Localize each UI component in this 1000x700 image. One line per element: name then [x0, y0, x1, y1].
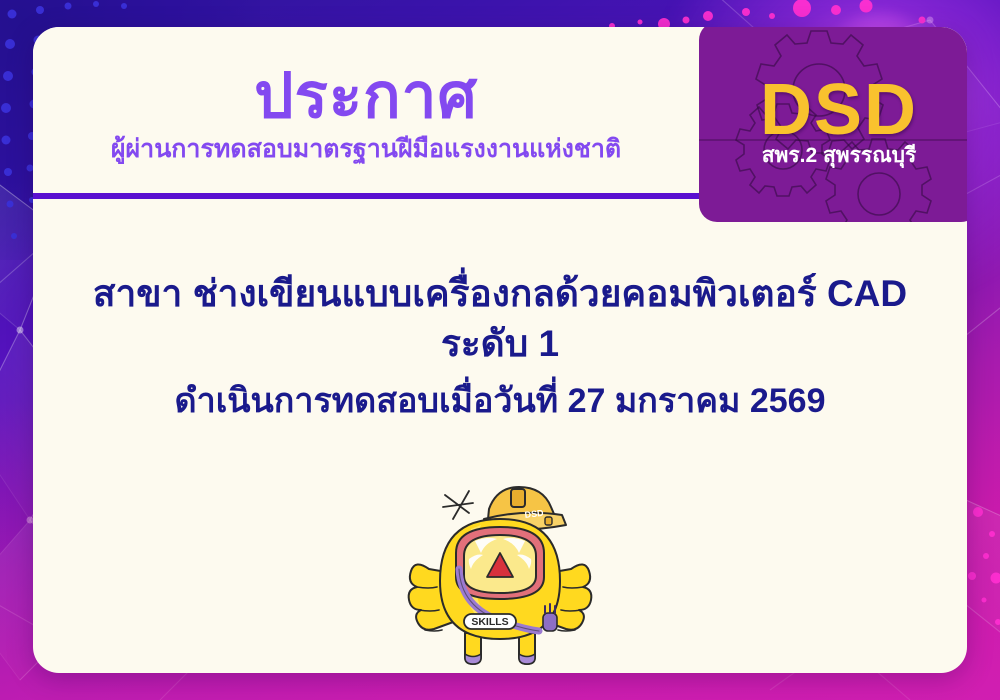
mascot-belly-label: SKILLS — [471, 616, 508, 628]
mascot-illustration: DSD — [385, 473, 615, 673]
skills-mascot: DSD — [385, 473, 615, 673]
poster-canvas: ประกาศ ผู้ผ่านการทดสอบมาตรฐานฝีมือแรงงาน… — [0, 0, 1000, 700]
page-title: ประกาศ — [254, 66, 478, 128]
header-title-group: ประกาศ ผู้ผ่านการทดสอบมาตรฐานฝีมือแรงงาน… — [33, 27, 699, 199]
poster-card: ประกาศ ผู้ผ่านการทดสอบมาตรฐานฝีมือแรงงาน… — [33, 27, 967, 673]
test-date-line: ดำเนินการทดสอบเมื่อวันที่ 27 มกราคม 2569 — [61, 380, 939, 423]
page-subtitle: ผู้ผ่านการทดสอบมาตรฐานฝีมือแรงงานแห่งชาต… — [111, 136, 621, 164]
dsd-logo-block: DSD สพร.2 สุพรรณบุรี — [699, 27, 967, 222]
trade-name-line: สาขา ช่างเขียนแบบเครื่องกลด้วยคอมพิวเตอร… — [61, 271, 939, 317]
level-line: ระดับ 1 — [61, 321, 939, 367]
body-content: สาขา ช่างเขียนแบบเครื่องกลด้วยคอมพิวเตอร… — [33, 205, 967, 673]
dsd-acronym: DSD — [760, 77, 918, 143]
dsd-caption: สพร.2 สุพรรณบุรี — [762, 144, 917, 167]
